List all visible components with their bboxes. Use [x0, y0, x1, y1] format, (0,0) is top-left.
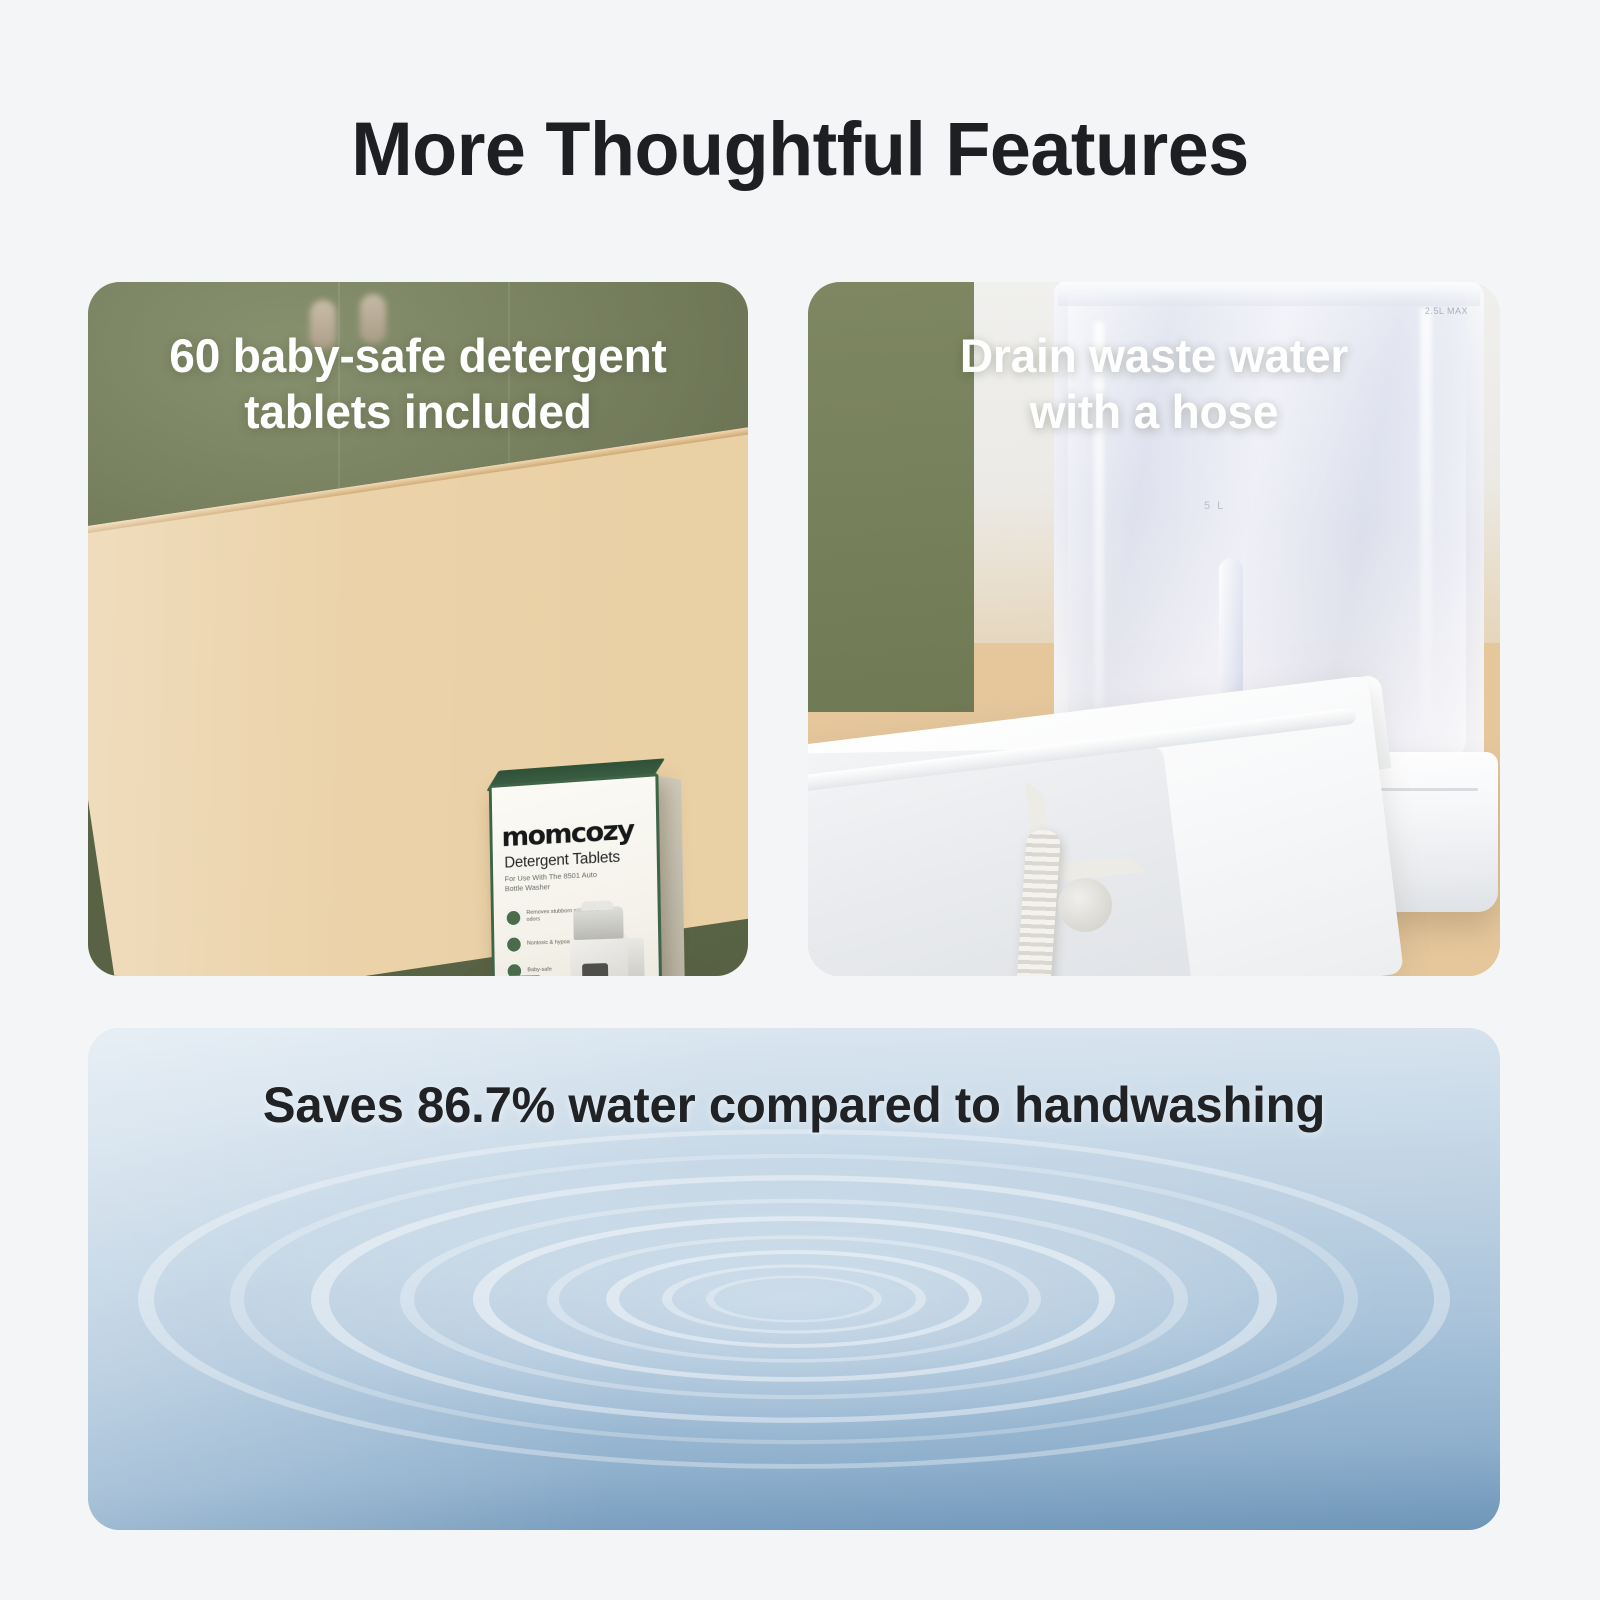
device-display-panel — [582, 963, 608, 976]
box-front-face: momcozy Detergent Tablets For Use With T… — [489, 773, 663, 976]
drain-card-caption: Drain waste water with a hose — [815, 328, 1493, 440]
box-device-illustration — [565, 897, 651, 976]
tank-inlet-tube — [1219, 558, 1243, 710]
tank-rim — [1058, 282, 1480, 306]
tank-scale-label: 5 L — [1204, 500, 1225, 512]
feature-card-detergent-tablets[interactable]: momcozy Detergent Tablets For Use With T… — [88, 282, 748, 976]
device-clear-tank — [573, 906, 623, 940]
marketing-page: More Thoughtful Features momcozy Deterge… — [0, 0, 1600, 1600]
feature-card-water-saving[interactable]: Saves 86.7% water compared to handwashin… — [88, 1028, 1500, 1530]
box-brand-logo: momcozy — [501, 813, 653, 853]
tablet-count-badge: 60 Tablets — [508, 975, 541, 976]
leaf-badge-icon — [506, 935, 523, 952]
device-lid — [581, 900, 613, 910]
leaf-badge-icon — [505, 909, 522, 926]
water-saving-caption: Saves 86.7% water compared to handwashin… — [102, 1076, 1486, 1134]
feature-card-drain-hose[interactable]: 2.5L MAX 5 L Drain waste water with a ho… — [808, 282, 1500, 976]
box-fine-print: For Use With The 8501 Auto Bottle Washer — [505, 869, 613, 894]
tank-volume-markings: 2.5L MAX — [1425, 306, 1468, 316]
page-title: More Thoughtful Features — [24, 105, 1576, 195]
leaf-badge-icon — [506, 962, 523, 976]
detergent-card-caption: 60 baby-safe detergent tablets included — [95, 328, 742, 440]
detergent-box: momcozy Detergent Tablets For Use With T… — [489, 773, 663, 976]
